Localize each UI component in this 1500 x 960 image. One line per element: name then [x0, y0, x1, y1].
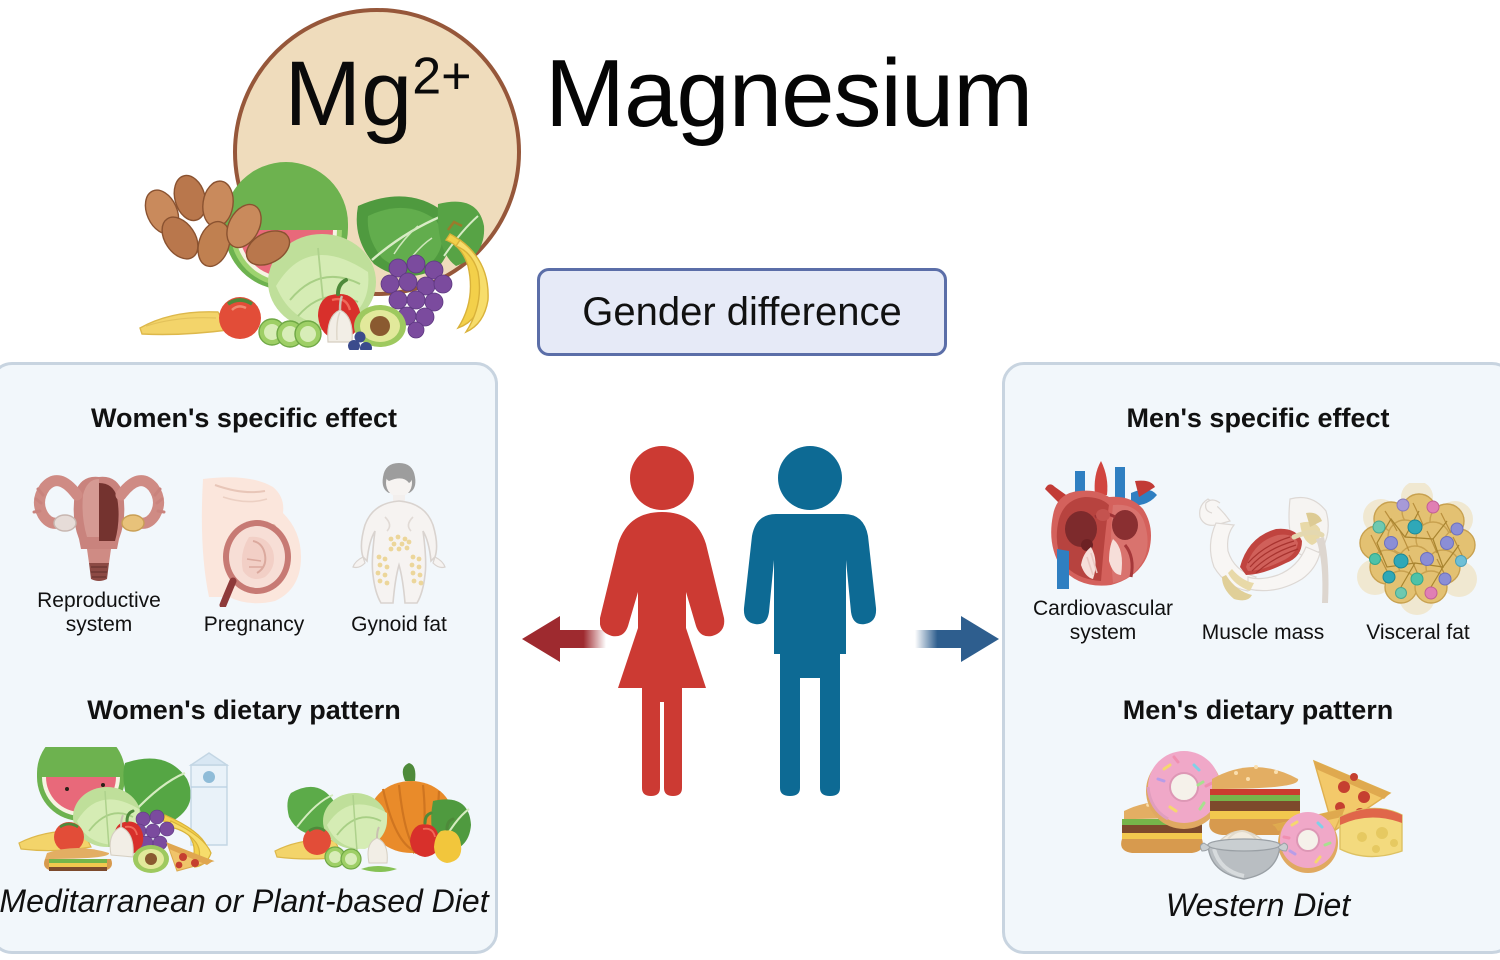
men-diet-heading: Men's dietary pattern: [1005, 695, 1500, 726]
magnesium-charge: 2+: [412, 47, 471, 105]
men-effect-heading: Men's specific effect: [1005, 403, 1500, 434]
arrow-left-icon: [516, 612, 606, 666]
mixed-healthy-food-icon: [15, 747, 247, 877]
male-figure-icon: [744, 446, 876, 796]
effect-label: Gynoid fat: [351, 613, 447, 637]
magnesium-ion-label: Mg2+: [253, 48, 503, 140]
gender-figures-group: [600, 440, 900, 800]
page-title: Magnesium: [545, 46, 1032, 142]
effect-item-visceral-fat: Visceral fat: [1343, 483, 1493, 645]
women-panel: Women's specific effect Repro: [0, 362, 498, 954]
effect-label: Reproductive system: [24, 589, 174, 637]
effect-item-gynoid-fat: Gynoid fat: [329, 457, 469, 637]
women-diet-caption: Meditarranean or Plant-based Diet: [0, 883, 495, 920]
effect-label: Visceral fat: [1366, 621, 1470, 645]
men-panel: Men's specific effect: [1002, 362, 1500, 954]
effect-item-reproductive-system: Reproductive system: [19, 453, 179, 637]
gender-difference-chip[interactable]: Gender difference: [537, 268, 947, 356]
vegetables-icon: [273, 759, 473, 877]
flexed-arm-muscle-icon: [1190, 483, 1336, 615]
gender-difference-label: Gender difference: [582, 290, 901, 335]
heart-anatomy-icon: [1035, 453, 1171, 591]
adipocyte-cluster-icon: [1353, 483, 1483, 615]
effect-label: Muscle mass: [1202, 621, 1325, 645]
female-figure-icon: [600, 446, 724, 796]
infographic-canvas: Mg2+ Magnesium: [0, 0, 1500, 960]
effect-item-cardiovascular-system: Cardiovascular system: [1023, 453, 1183, 645]
men-diet-caption: Western Diet: [1005, 887, 1500, 924]
effect-item-muscle-mass: Muscle mass: [1183, 483, 1343, 645]
effect-label: Pregnancy: [204, 613, 304, 637]
fast-food-icon: [1108, 739, 1408, 889]
arrow-right-icon: [915, 612, 1005, 666]
women-effect-heading: Women's specific effect: [0, 403, 495, 434]
magnesium-rich-foods-illustration: [132, 160, 492, 350]
women-diet-heading: Women's dietary pattern: [0, 695, 495, 726]
pregnant-abdomen-icon: [189, 469, 319, 607]
effect-label: Cardiovascular system: [1028, 597, 1178, 645]
magnesium-symbol: Mg: [284, 43, 412, 145]
uterus-icon: [29, 453, 169, 583]
effect-item-pregnancy: Pregnancy: [179, 469, 329, 637]
gynoid-fat-body-icon: [347, 457, 451, 607]
